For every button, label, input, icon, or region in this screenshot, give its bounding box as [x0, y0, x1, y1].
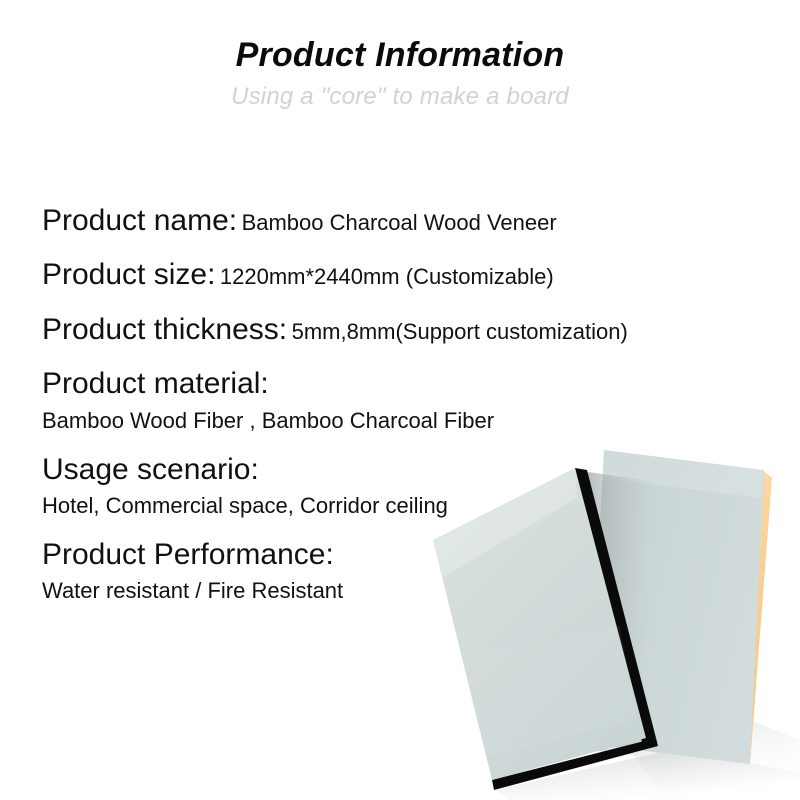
spec-label-product-thickness: Product thickness: [42, 313, 287, 346]
spec-value-product-name: Bamboo Charcoal Wood Veneer [242, 210, 557, 235]
spec-label-usage-scenario: Usage scenario: [42, 453, 259, 486]
page-header: Product Information Using a "core" to ma… [0, 0, 800, 109]
spec-label-product-name: Product name: [42, 204, 237, 237]
spec-row-product-thickness: Product thickness: 5mm,8mm(Support custo… [42, 312, 742, 347]
page-subtitle: Using a "core" to make a board [0, 74, 800, 109]
spec-row-product-name: Product name: Bamboo Charcoal Wood Venee… [42, 203, 742, 238]
spec-label-product-size: Product size: [42, 258, 215, 291]
page-title: Product Information [0, 0, 800, 74]
spec-label-product-material: Product material: [42, 367, 269, 400]
product-photo [420, 420, 800, 800]
spec-value-product-thickness: 5mm,8mm(Support customization) [292, 319, 628, 344]
spec-row-product-size: Product size: 1220mm*2440mm (Customizabl… [42, 257, 742, 292]
spec-value-product-size: 1220mm*2440mm (Customizable) [220, 264, 554, 289]
spec-label-product-performance: Product Performance: [42, 538, 334, 571]
spec-row-product-material: Product material: [42, 366, 742, 401]
